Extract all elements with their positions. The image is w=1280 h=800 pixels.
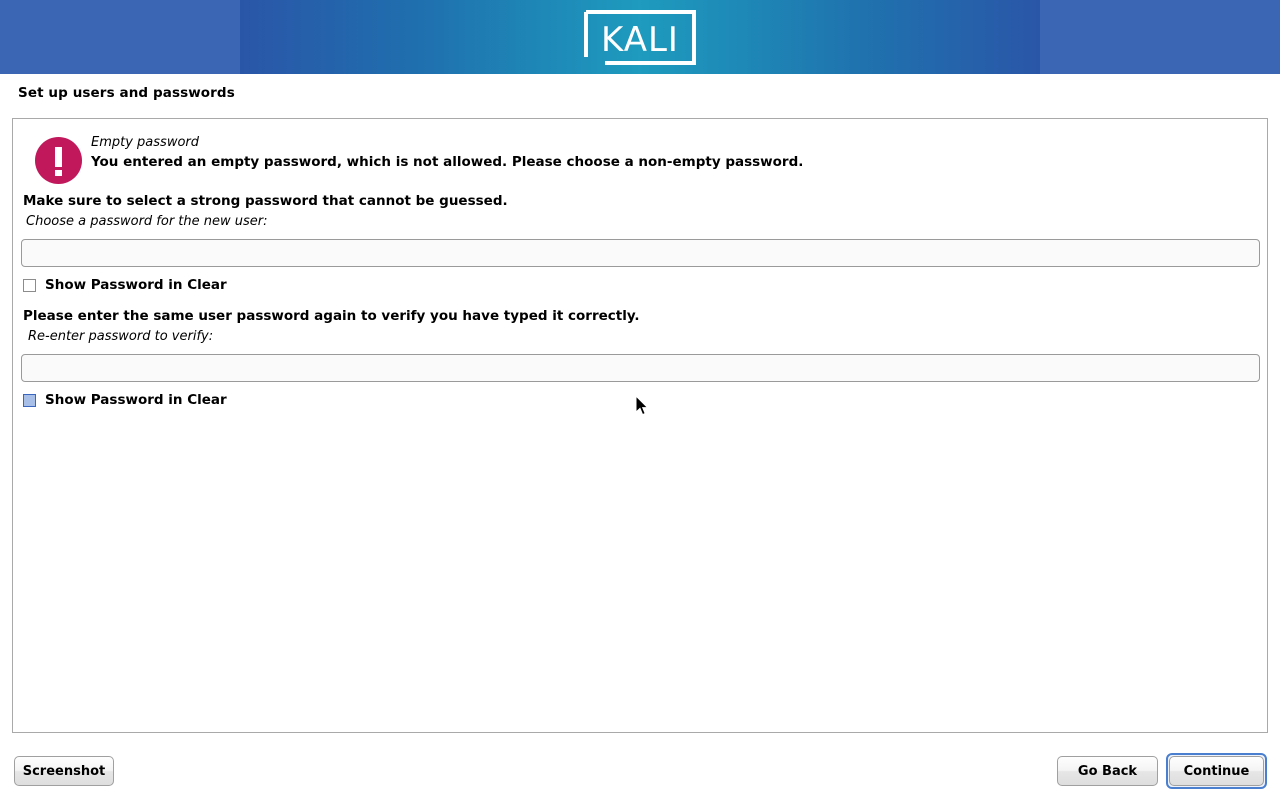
show-password-checkbox-1[interactable] bbox=[23, 279, 36, 292]
password-label: Choose a password for the new user: bbox=[26, 214, 268, 229]
page-title: Set up users and passwords bbox=[18, 85, 235, 101]
show-password-checkbox-2[interactable] bbox=[23, 394, 36, 407]
svg-text:KALI: KALI bbox=[601, 20, 679, 60]
verify-heading: Please enter the same user password agai… bbox=[23, 308, 640, 324]
continue-button-focus-ring: Continue bbox=[1166, 753, 1267, 789]
show-password-row-2[interactable]: Show Password in Clear bbox=[23, 391, 227, 409]
content-panel: Empty password You entered an empty pass… bbox=[12, 118, 1268, 733]
exclamation-icon bbox=[35, 137, 82, 184]
error-banner: Empty password You entered an empty pass… bbox=[23, 127, 1253, 189]
kali-logo: KALI bbox=[583, 9, 697, 66]
screenshot-button[interactable]: Screenshot bbox=[14, 756, 114, 786]
password-heading: Make sure to select a strong password th… bbox=[23, 193, 508, 209]
verify-password-input[interactable] bbox=[21, 354, 1260, 382]
password-input[interactable] bbox=[21, 239, 1260, 267]
show-password-label-1: Show Password in Clear bbox=[45, 277, 227, 293]
error-title: Empty password bbox=[91, 135, 199, 150]
kali-banner: KALI bbox=[0, 0, 1280, 74]
continue-button[interactable]: Continue bbox=[1169, 756, 1264, 786]
verify-label: Re-enter password to verify: bbox=[28, 329, 213, 344]
go-back-button[interactable]: Go Back bbox=[1057, 756, 1158, 786]
error-message: You entered an empty password, which is … bbox=[91, 154, 803, 170]
show-password-label-2: Show Password in Clear bbox=[45, 392, 227, 408]
installer-screen: KALI Set up users and passwords Empty pa… bbox=[0, 0, 1280, 800]
show-password-row-1[interactable]: Show Password in Clear bbox=[23, 276, 227, 294]
